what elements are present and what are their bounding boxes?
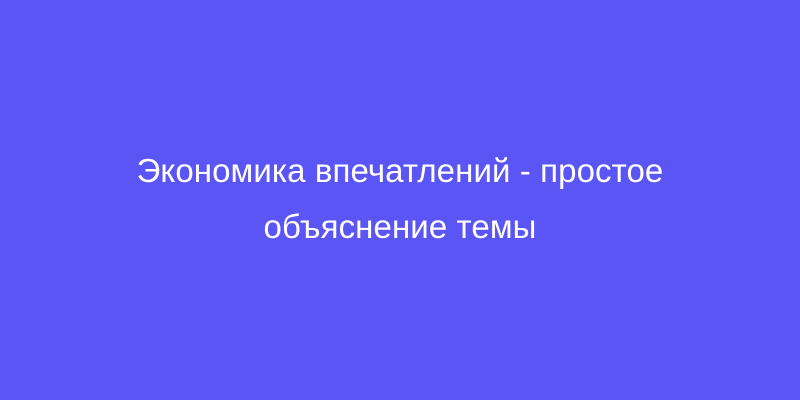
title-block: Экономика впечатлений - простое объяснен… [110, 143, 690, 255]
title-banner: Экономика впечатлений - простое объяснен… [0, 0, 800, 400]
page-title: Экономика впечатлений - простое объяснен… [110, 143, 690, 255]
